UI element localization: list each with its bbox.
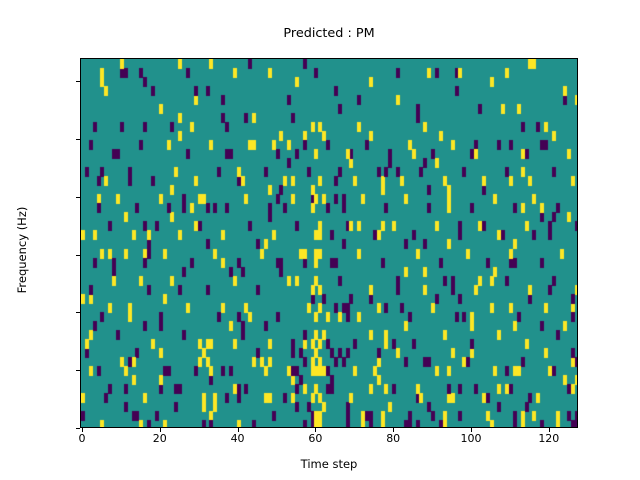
matplotlib-figure: Predicted : PM Frequency (Hz) 0200004000… bbox=[0, 0, 640, 480]
x-tick-mark bbox=[160, 428, 161, 432]
x-tick-mark bbox=[393, 428, 394, 432]
x-tick-label: 80 bbox=[363, 433, 423, 445]
chart-title: Predicted : PM bbox=[80, 26, 578, 42]
y-tick-mark bbox=[76, 428, 80, 429]
x-tick-mark bbox=[549, 428, 550, 432]
x-tick-mark bbox=[82, 428, 83, 432]
x-tick-mark bbox=[238, 428, 239, 432]
x-tick-label: 0 bbox=[52, 433, 112, 445]
x-axis-label: Time step bbox=[80, 457, 578, 471]
x-tick-label: 100 bbox=[441, 433, 501, 445]
x-tick-mark bbox=[315, 428, 316, 432]
x-tick-label: 120 bbox=[519, 433, 579, 445]
y-axis-label: Frequency (Hz) bbox=[15, 65, 29, 435]
x-tick-label: 60 bbox=[285, 433, 345, 445]
x-tick-mark bbox=[471, 428, 472, 432]
x-tick-label: 40 bbox=[208, 433, 268, 445]
heatmap-axes bbox=[80, 58, 578, 428]
heatmap-image bbox=[81, 59, 578, 428]
x-tick-label: 20 bbox=[130, 433, 190, 445]
